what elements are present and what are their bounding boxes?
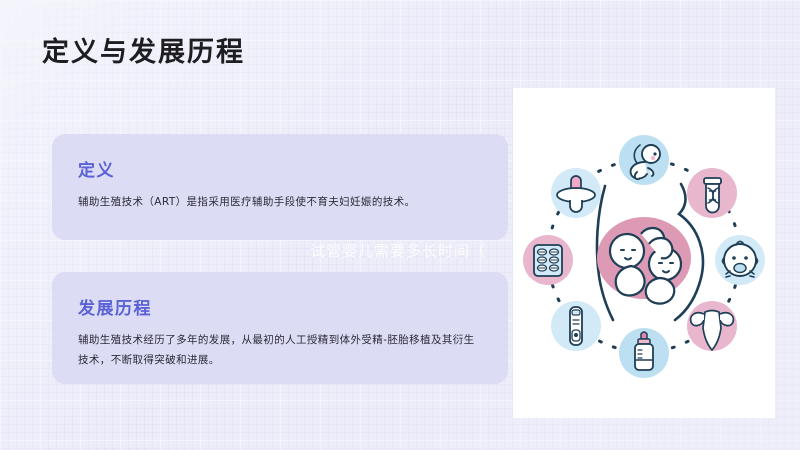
card-history: 发展历程 辅助生殖技术经历了多年的发展，从最初的人工授精到体外受精-胚胎移植及其… xyxy=(52,272,508,384)
dna-test-tube-icon xyxy=(687,168,737,218)
slide-canvas: 定义与发展历程 定义 辅助生殖技术（ART）是指采用医疗辅助手段使不育夫妇妊娠的… xyxy=(0,0,800,450)
card-history-body: 辅助生殖技术经历了多年的发展，从最初的人工授精到体外受精-胚胎移植及其衍生技术，… xyxy=(78,330,482,371)
illustration-panel xyxy=(513,88,775,418)
watermark-text: 试管婴儿需要多长时间（ xyxy=(310,240,486,261)
pill-blister-icon xyxy=(523,235,573,285)
pregnancy-test-icon xyxy=(551,301,601,351)
pacifier-icon xyxy=(551,168,601,218)
card-definition-body: 辅助生殖技术（ART）是指采用医疗辅助手段使不育夫妇妊娠的技术。 xyxy=(78,192,482,212)
baby-bottle-icon xyxy=(619,328,669,378)
fetus-icon xyxy=(619,135,669,185)
card-definition-heading: 定义 xyxy=(78,156,482,181)
fertility-illustration xyxy=(513,88,775,418)
uterus-icon xyxy=(687,301,737,351)
pregnant-belly-twins-icon xyxy=(597,184,703,320)
card-history-heading: 发展历程 xyxy=(78,294,482,319)
card-definition: 定义 辅助生殖技术（ART）是指采用医疗辅助手段使不育夫妇妊娠的技术。 xyxy=(52,134,508,240)
page-title: 定义与发展历程 xyxy=(42,30,245,69)
baby-face-icon xyxy=(715,235,765,285)
